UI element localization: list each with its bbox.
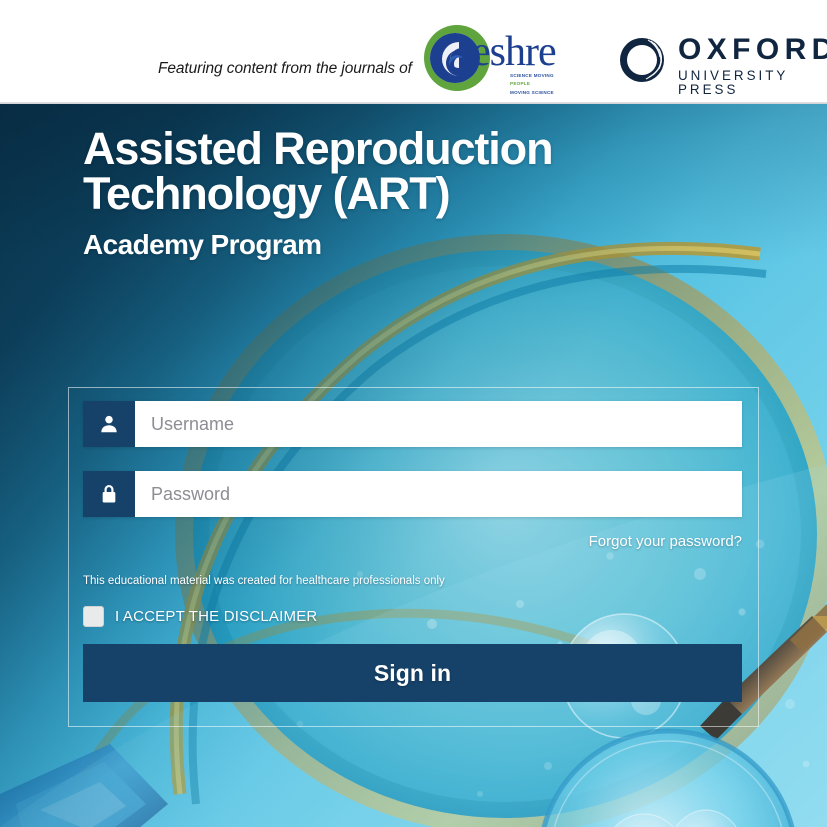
oup-university-press-text: UNIVERSITY PRESS: [678, 69, 827, 98]
oxford-university-press-logo: OXFORD UNIVERSITY PRESS: [618, 34, 814, 88]
forgot-password-link[interactable]: Forgot your password?: [589, 533, 742, 550]
sign-in-button[interactable]: Sign in: [83, 644, 742, 702]
eshre-logo: eshre SCIENCE MOVING PEOPLE MOVING SCIEN…: [424, 22, 569, 94]
featuring-content-label: Featuring content from the journals of: [158, 60, 412, 78]
page-subtitle: Academy Program: [83, 230, 552, 259]
eshre-tagline: SCIENCE MOVING PEOPLE MOVING SCIENCE: [510, 72, 572, 97]
password-field-row: [83, 471, 742, 517]
user-icon: [83, 401, 135, 447]
login-form: Forgot your password? This educational m…: [83, 401, 742, 541]
oup-oxford-text: OXFORD: [678, 34, 827, 66]
eshre-wordmark: eshre: [472, 31, 556, 73]
eshre-tagline-line-1: SCIENCE MOVING: [510, 72, 572, 80]
hero-section: Assisted Reproduction Technology (ART) A…: [0, 104, 827, 827]
page-title-line-2: Technology (ART): [83, 171, 552, 216]
password-input[interactable]: [135, 471, 742, 517]
oup-circle-mark-icon: [618, 36, 666, 84]
page-title-block: Assisted Reproduction Technology (ART) A…: [83, 126, 552, 259]
username-field-row: [83, 401, 742, 447]
eshre-tagline-line-2: PEOPLE: [510, 80, 572, 88]
accept-disclaimer-label: I ACCEPT THE DISCLAIMER: [115, 608, 317, 625]
page-title-line-1: Assisted Reproduction: [83, 126, 552, 171]
accept-disclaimer-row[interactable]: I ACCEPT THE DISCLAIMER: [83, 606, 317, 627]
page-title: Assisted Reproduction Technology (ART): [83, 126, 552, 216]
disclaimer-text: This educational material was created fo…: [83, 575, 445, 587]
lock-icon: [83, 471, 135, 517]
eshre-tagline-line-3: MOVING SCIENCE: [510, 89, 572, 97]
accept-disclaimer-checkbox[interactable]: [83, 606, 104, 627]
oup-wordmark: OXFORD UNIVERSITY PRESS: [678, 34, 827, 98]
partner-logo-header: Featuring content from the journals of e…: [0, 0, 827, 104]
login-page: Featuring content from the journals of e…: [0, 0, 827, 827]
username-input[interactable]: [135, 401, 742, 447]
